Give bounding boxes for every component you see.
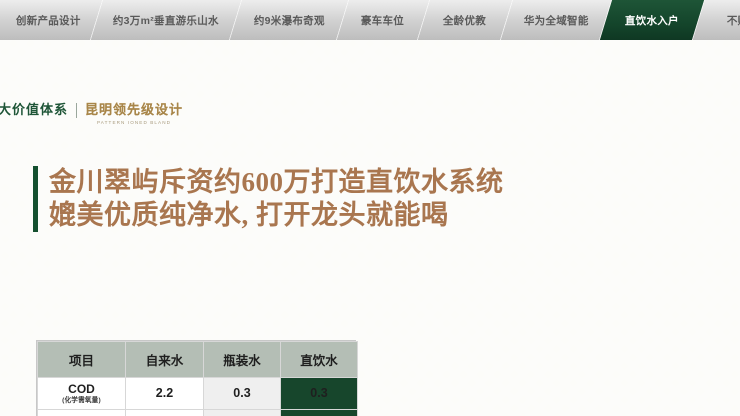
nav-tab-huawei-zhineng[interactable]: 华为全域智能	[501, 0, 611, 40]
nav-tab-label: 直饮水入户	[625, 13, 679, 28]
cell-cod-tap: 2.2	[126, 378, 204, 410]
nav-tab-zhiyinshui[interactable]: 直饮水入户	[600, 0, 704, 40]
nav-tab-label: 豪车车位	[361, 13, 404, 28]
cell-toc-direct: 0.4	[281, 409, 358, 416]
table-header-row: 项目 自来水 瓶装水 直饮水	[38, 342, 358, 378]
cell-toc-bottled: 0.4	[204, 409, 281, 416]
nav-tab-pubu[interactable]: 约9米瀑布奇观	[230, 0, 348, 40]
cell-cod-bottled: 0.3	[204, 378, 281, 410]
headline-line-2: 媲美优质纯净水, 打开龙头就能喝	[49, 199, 504, 232]
headline-accent-bar	[33, 166, 38, 232]
row-label-cod: COD (化学需氧量)	[38, 378, 126, 410]
brand-lockup: 八大价值体系 昆明领先级设计 PATTERN IONED BLAND	[0, 102, 724, 125]
nav-tab-quanling-youjiao[interactable]: 全龄优教	[418, 0, 512, 40]
nav-tab-label: 不赚钱物业	[727, 13, 740, 28]
table-row: COD (化学需氧量) 2.2 0.3 0.3	[38, 378, 358, 410]
headline-block: 金川翠屿斥资约600万打造直饮水系统 媲美优质纯净水, 打开龙头就能喝	[33, 166, 740, 232]
col-header-item: 项目	[38, 342, 126, 378]
nav-tab-label: 华为全域智能	[524, 13, 589, 28]
comparison-grid: 项目 自来水 瓶装水 直饮水 COD (化学需氧量) 2.2 0.3 0.3 T…	[37, 341, 358, 416]
col-header-tap-water: 自来水	[126, 342, 204, 378]
top-navigation-bar: 创新产品设计 约3万m²垂直游乐山水 约9米瀑布奇观 豪车车位 全龄优教 华为全…	[0, 0, 740, 40]
brand-secondary-block: 昆明领先级设计 PATTERN IONED BLAND	[85, 102, 183, 125]
row-label-sub: (化学需氧量)	[40, 396, 123, 405]
slide-canvas: 创新产品设计 约3万m²垂直游乐山水 约9米瀑布奇观 豪车车位 全龄优教 华为全…	[0, 0, 740, 416]
nav-tab-label: 约9米瀑布奇观	[254, 13, 325, 28]
brand-divider	[76, 103, 77, 118]
cell-cod-direct: 0.3	[281, 378, 358, 410]
nav-tab-label: 全龄优教	[443, 13, 486, 28]
nav-tab-chuizhi-youle[interactable]: 约3万m²垂直游乐山水	[91, 0, 241, 40]
brand-main-title: 八大价值体系	[0, 102, 68, 118]
water-comparison-table: 项目 自来水 瓶装水 直饮水 COD (化学需氧量) 2.2 0.3 0.3 T…	[36, 340, 356, 416]
row-label-main: COD	[68, 382, 95, 396]
cell-toc-tap: 3.0	[126, 409, 204, 416]
nav-tab-chuangxin[interactable]: 创新产品设计	[0, 0, 102, 40]
brand-english-caption: PATTERN IONED BLAND	[97, 120, 171, 125]
nav-tab-label: 创新产品设计	[16, 13, 81, 28]
nav-tab-label: 约3万m²垂直游乐山水	[113, 13, 219, 28]
brand-sub-title: 昆明领先级设计	[85, 102, 183, 118]
nav-tab-haoche-cheweI[interactable]: 豪车车位	[337, 0, 429, 40]
headline-line-1: 金川翠屿斥资约600万打造直饮水系统	[49, 166, 504, 199]
table-row: TOC (总有机碳) 3.0 0.4 0.4	[38, 409, 358, 416]
headline-text-group: 金川翠屿斥资约600万打造直饮水系统 媲美优质纯净水, 打开龙头就能喝	[49, 166, 504, 232]
col-header-direct-drink-water: 直饮水	[281, 342, 358, 378]
row-label-toc: TOC (总有机碳)	[38, 409, 126, 416]
col-header-bottled-water: 瓶装水	[204, 342, 281, 378]
